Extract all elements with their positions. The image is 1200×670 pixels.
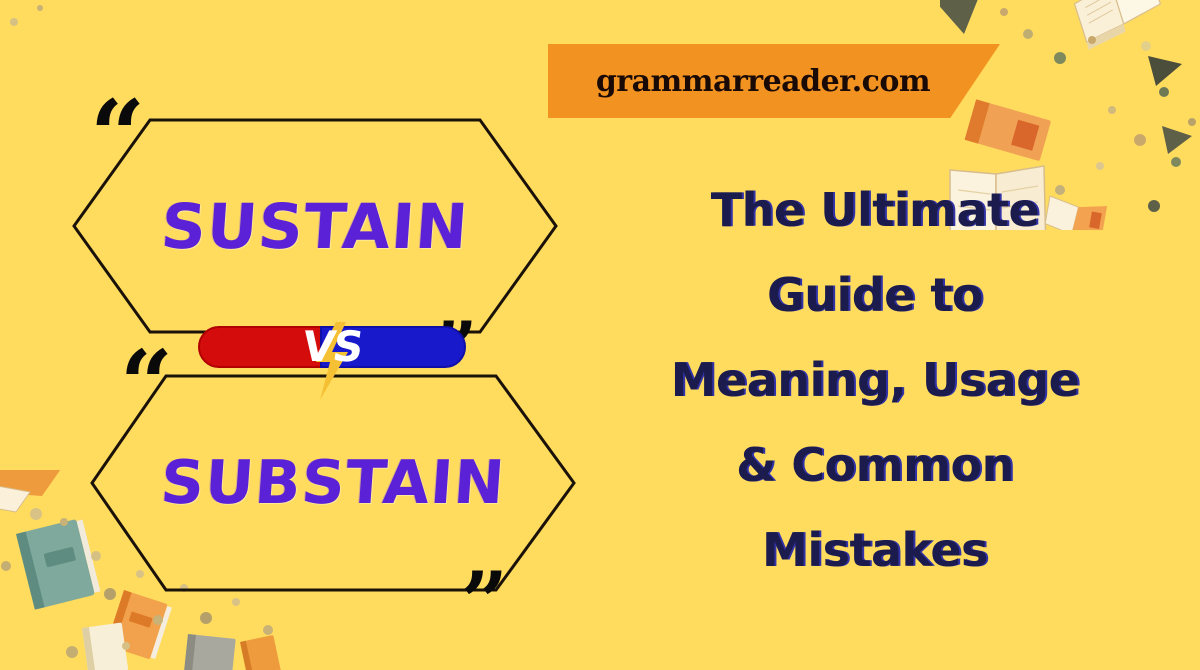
versus-label: VS (300, 326, 365, 368)
headline-block: The Ultimate Guide to Meaning, Usage & C… (640, 168, 1110, 593)
versus-badge: VS (198, 326, 466, 368)
headline-line-4: & Common (640, 423, 1110, 508)
headline-line-2: Guide to (640, 253, 1110, 338)
site-name-text: grammarreader.com (596, 64, 930, 99)
quote-mark-top-left-icon: “ (90, 88, 145, 184)
headline-line-3: Meaning, Usage (640, 338, 1110, 423)
site-name-banner: grammarreader.com (548, 44, 1000, 118)
quote-mark-middle-left-icon: “ (120, 338, 173, 430)
headline-line-5: Mistakes (640, 508, 1110, 593)
headline-line-1: The Ultimate (640, 168, 1110, 253)
thumbnail-canvas: grammarreader.com SUSTAIN SUBSTAIN “ “ “… (0, 0, 1200, 670)
quote-mark-bottom-right-icon: “ (460, 520, 507, 602)
